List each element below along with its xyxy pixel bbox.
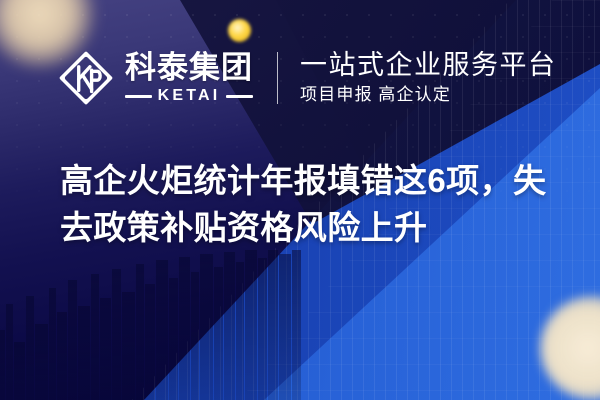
headline-line-1: 高企火炬统计年报填错这6项，失 — [60, 158, 546, 205]
tagline-sub: 项目申报 高企认定 — [300, 86, 557, 105]
brand-row: 科泰集团 KETAI 一站式企业服务平台 项目申报 高企认定 — [58, 44, 557, 112]
logo-name-cn: 科泰集团 — [125, 52, 253, 83]
ketai-diamond-kp-logo-icon — [58, 50, 114, 106]
headline: 高企火炬统计年报填错这6项，失 去政策补贴资格风险上升 — [60, 158, 546, 252]
logo-dash-left — [125, 95, 152, 98]
logo-wordmark: 科泰集团 KETAI — [125, 52, 253, 104]
city-skyline-silhouette — [0, 250, 414, 400]
logo-name-en: KETAI — [158, 88, 221, 104]
gold-dot-icon — [228, 19, 251, 42]
headline-line-2: 去政策补贴资格风险上升 — [60, 205, 546, 252]
tagline: 一站式企业服务平台 项目申报 高企认定 — [300, 51, 557, 105]
cream-glow-circle-bottom-right — [540, 296, 600, 400]
promo-banner: 科泰集团 KETAI 一站式企业服务平台 项目申报 高企认定 高企火炬统计年报填… — [0, 0, 600, 400]
logo-dash-right — [226, 95, 253, 98]
logo-name-en-row: KETAI — [125, 88, 253, 104]
tagline-main: 一站式企业服务平台 — [300, 51, 557, 80]
brand-divider — [277, 52, 278, 104]
